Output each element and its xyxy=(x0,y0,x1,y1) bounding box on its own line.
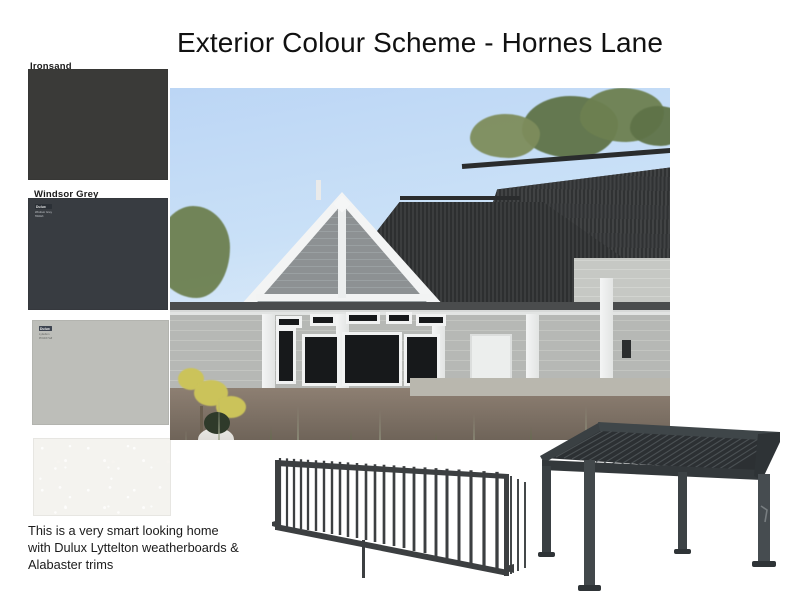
wall-lamp xyxy=(622,340,631,358)
swatch-colour-name: Lyttelton xyxy=(39,333,52,336)
window-transom xyxy=(276,316,302,328)
swatch-colour-name: Windsor Grey xyxy=(35,211,52,214)
swatch-brand-block: Dulux Windsor Grey SW1E3 xyxy=(35,204,52,218)
chimney-flue xyxy=(316,180,321,200)
window-transom xyxy=(346,312,380,324)
swatch-ironsand[interactable] xyxy=(28,69,168,180)
swatch-lyttelton[interactable]: Dulux Lyttelton PN1D3 Half xyxy=(32,320,169,425)
caption-text: This is a very smart looking home with D… xyxy=(28,522,243,573)
texture-overlay xyxy=(34,439,170,515)
swatch-colour-code: SW1E3 xyxy=(35,215,52,218)
dulux-logo-text: Dulux xyxy=(39,326,52,331)
swatch-brand-block: Dulux Lyttelton PN1D3 Half xyxy=(39,326,52,340)
mood-board: Exterior Colour Scheme - Hornes Lane Iro… xyxy=(0,0,800,600)
window-transom xyxy=(310,314,336,326)
swatch-alabaster[interactable] xyxy=(33,438,171,516)
dulux-logo-text: Dulux xyxy=(35,204,52,209)
exterior-house-photo[interactable] xyxy=(170,88,670,440)
window-transom xyxy=(416,314,446,326)
swatch-colour-code: PN1D3 Half xyxy=(39,337,52,340)
background-tree xyxy=(470,114,540,158)
roof-ridge xyxy=(400,196,520,200)
page-title: Exterior Colour Scheme - Hornes Lane xyxy=(0,27,800,59)
louvred-pergola[interactable] xyxy=(530,418,798,596)
window-casement xyxy=(302,334,340,386)
swatch-windsor-grey[interactable]: Dulux Windsor Grey SW1E3 xyxy=(28,198,168,310)
gable-brace-vertical xyxy=(338,206,346,298)
window-picture xyxy=(342,332,402,386)
window-sidelight xyxy=(276,328,296,384)
garden-path xyxy=(410,378,670,396)
planter-shrub xyxy=(204,412,230,434)
aluminium-slat-fence[interactable] xyxy=(258,452,530,587)
window-transom xyxy=(386,312,412,324)
